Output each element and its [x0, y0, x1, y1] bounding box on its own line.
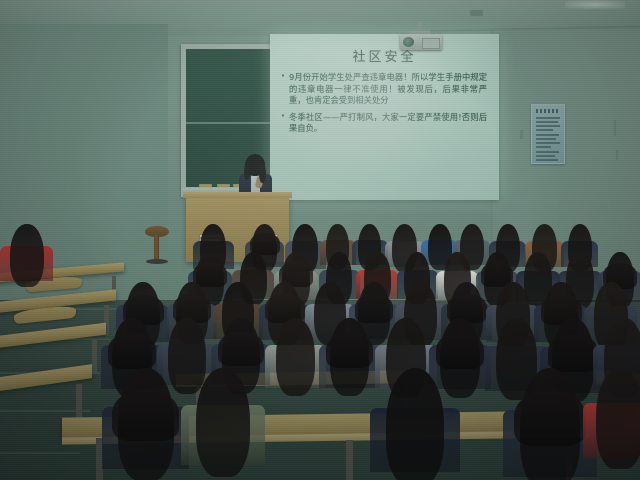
- slide-bullet-2: 冬季社区——严打制风，大家一定要严禁使用!否则后果自负。: [281, 112, 487, 135]
- audience-member-head: [196, 368, 250, 477]
- speaker-hair-right-strand: [259, 163, 266, 183]
- audience-member-head: [10, 224, 44, 287]
- notice-text-line: [536, 151, 559, 153]
- audience-member: [118, 368, 174, 480]
- audience-member: [520, 368, 580, 480]
- audience-member: [440, 318, 480, 398]
- audience-member: [276, 318, 315, 396]
- audience-member: [386, 368, 444, 480]
- audience-member: [330, 318, 369, 396]
- chalk-piece: [199, 184, 212, 187]
- lecture-hall-scene: 社区安全 9月份开始学生处严查违章电器！所以学生手册中规定的违章电器一律不准使用…: [0, 0, 640, 480]
- wall-scuff-3: [616, 150, 618, 160]
- audience-member-long-hair: [326, 333, 373, 368]
- notice-text-line: [536, 138, 556, 140]
- desk-leg: [346, 440, 353, 480]
- audience-member-long-hair: [436, 333, 484, 369]
- wall-notice-frame: [531, 104, 565, 164]
- projector-lens-icon: [403, 37, 414, 47]
- audience-member-head: [386, 368, 444, 480]
- stool-post: [154, 235, 159, 261]
- notice-text-line: [536, 129, 553, 131]
- audience-member-long-hair: [112, 390, 179, 441]
- notice-text-line: [536, 121, 558, 123]
- notice-heading: [536, 109, 560, 113]
- slide-title: 社区安全: [270, 46, 499, 65]
- notice-text-line: [536, 159, 558, 161]
- audience-member: [196, 368, 250, 477]
- audience-member-head: [596, 368, 640, 469]
- slide-body: 9月份开始学生处严查违章电器！所以学生手册中规定的违章电器一律不准使用！被发现后…: [281, 72, 487, 140]
- audience-member: [10, 224, 44, 287]
- notice-text-line: [536, 134, 559, 136]
- ceiling-light-glow: [565, 0, 625, 9]
- audience-member: [596, 368, 640, 469]
- notice-text-line: [536, 146, 551, 148]
- audience-member-head: [276, 318, 315, 396]
- notice-text-line: [536, 142, 560, 144]
- chalk-piece: [217, 184, 230, 187]
- audience-member-long-hair: [548, 334, 598, 372]
- wall-scuff-1: [520, 130, 523, 139]
- projector-side-panel: [422, 38, 440, 49]
- projection-screen: 社区安全 9月份开始学生处严查违章电器！所以学生手册中规定的违章电器一律不准使用…: [270, 34, 499, 200]
- stool-base: [146, 259, 168, 264]
- audience-member-long-hair: [218, 332, 264, 366]
- wall-scuff-2: [614, 120, 616, 136]
- audience-member-long-hair: [514, 391, 586, 446]
- notice-text-line: [536, 117, 560, 119]
- notice-text-line: [536, 125, 560, 127]
- podium-top-surface: [183, 192, 292, 198]
- audience-member-long-hair: [108, 333, 156, 369]
- step-riser-5: [0, 452, 80, 454]
- speaker-hair-left-strand: [244, 163, 250, 180]
- slide-bullet-1: 9月份开始学生处严查违章电器！所以学生手册中规定的违章电器一律不准使用！被发现后…: [281, 72, 487, 107]
- ceiling-vent: [470, 10, 483, 16]
- notice-text-line: [536, 155, 555, 157]
- desk-leg: [92, 340, 97, 374]
